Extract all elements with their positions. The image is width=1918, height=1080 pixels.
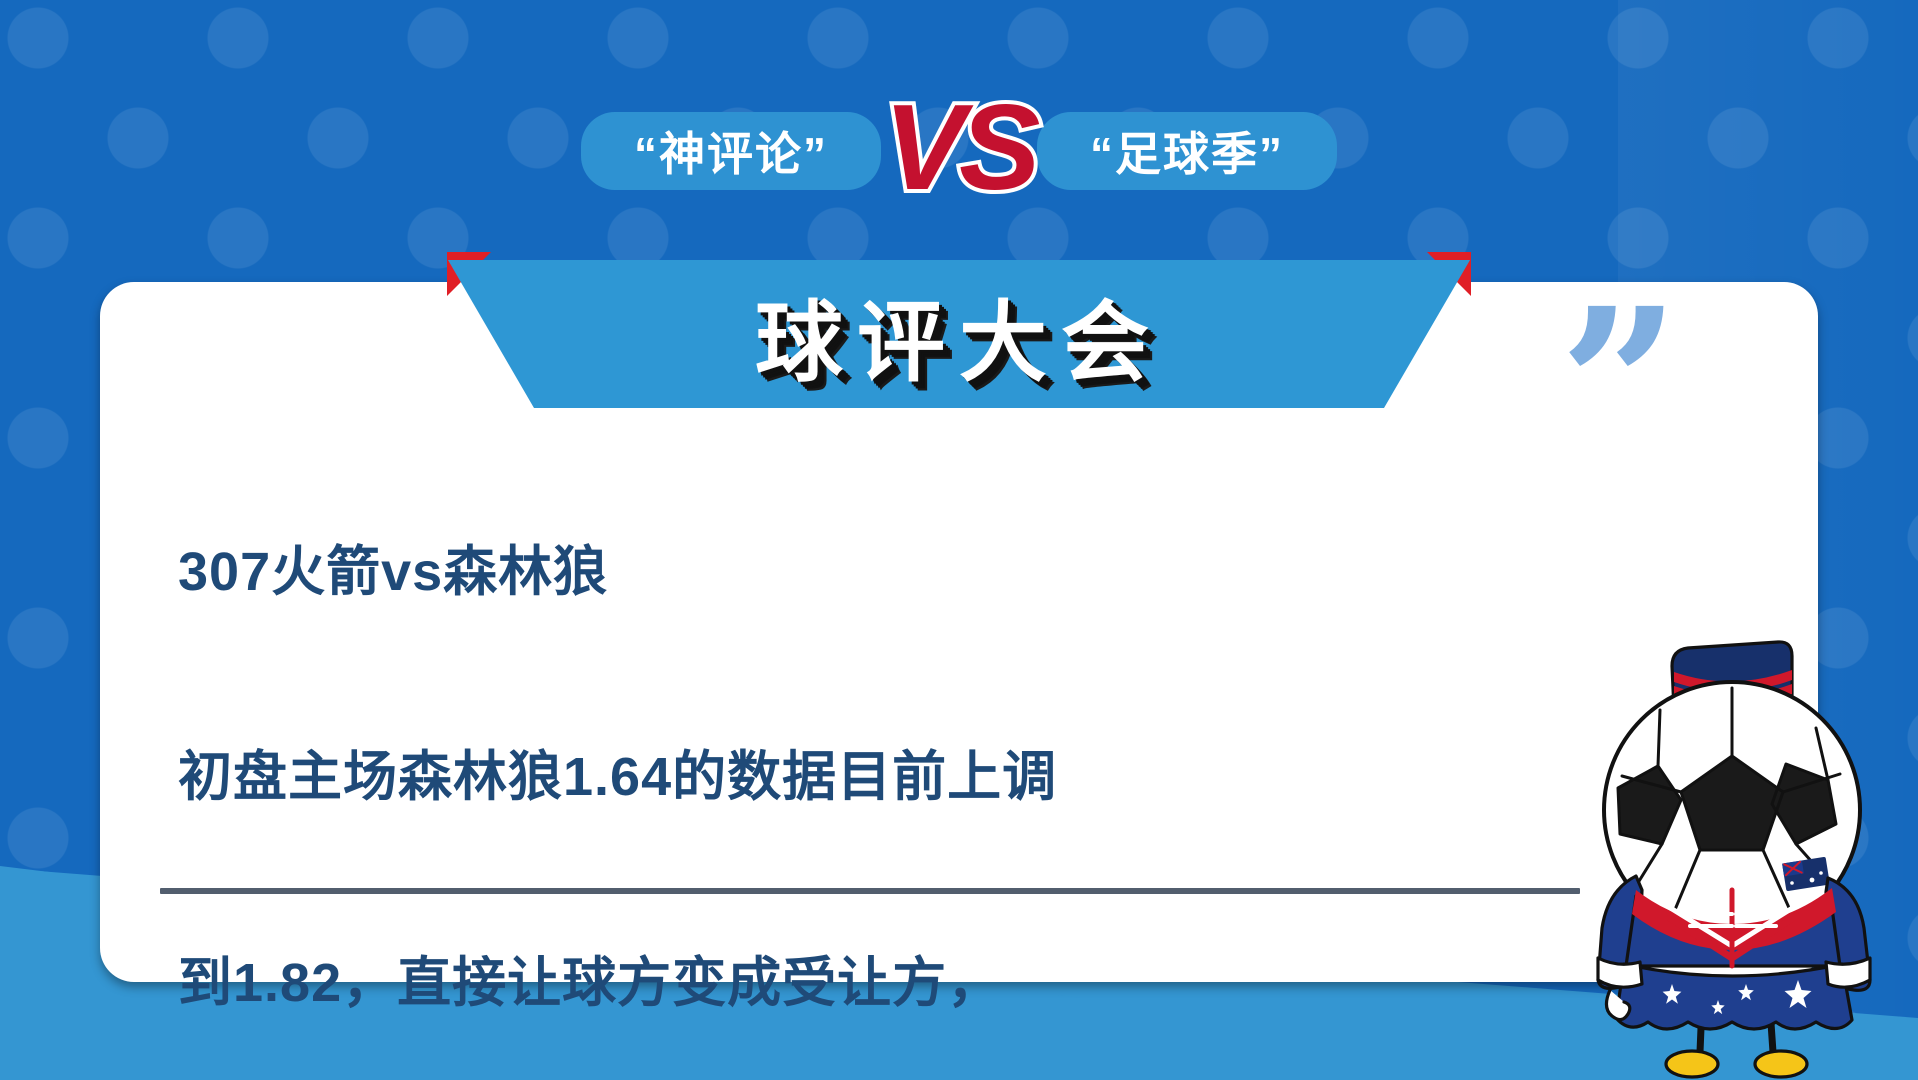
commentary-line-1: 307火箭vs森林狼 xyxy=(178,540,1378,606)
commentary-line-3: 到1.82，直接让球方变成受让方， xyxy=(178,951,1378,1017)
soccer-ball-mascot xyxy=(1540,628,1918,1080)
card-divider xyxy=(160,888,1580,894)
commentary-text: 307火箭vs森林狼 初盘主场森林狼1.64的数据目前上调 到1.82，直接让球… xyxy=(178,408,1378,1080)
poster-stage: “神评论” “足球季” VS ” 307火箭vs森林狼 初盘主场森林狼1.64的… xyxy=(0,0,1918,1080)
banner-title-text: 球评大会 xyxy=(0,272,1918,399)
vs-logo-text: VS xyxy=(884,79,1035,215)
badge-left-shenpinglun[interactable]: “神评论” xyxy=(581,112,881,190)
badge-right-zuqiuji[interactable]: “足球季” xyxy=(1037,112,1337,190)
title-banner: 球评大会 xyxy=(0,252,1918,408)
vs-logo: VS xyxy=(884,86,1035,208)
commentary-line-2: 初盘主场森林狼1.64的数据目前上调 xyxy=(178,745,1378,811)
